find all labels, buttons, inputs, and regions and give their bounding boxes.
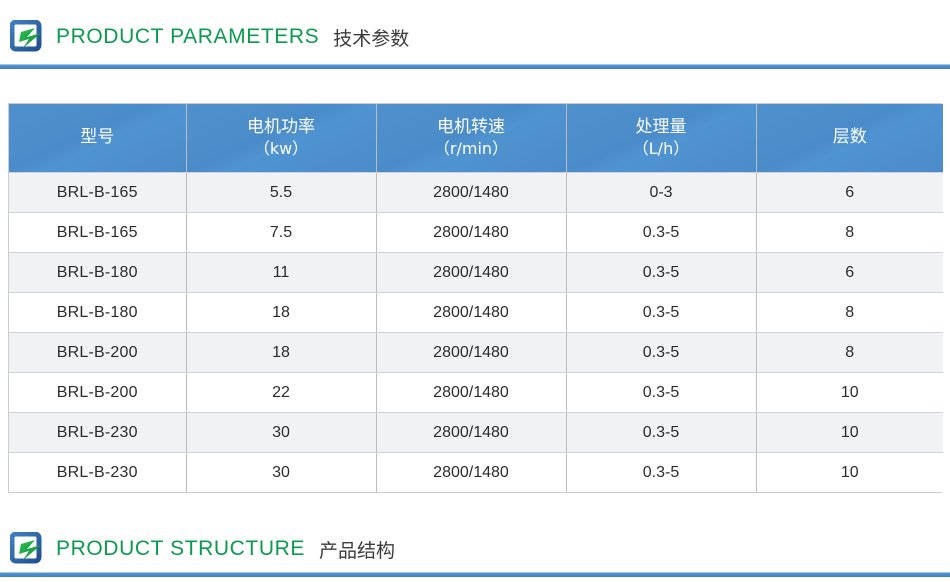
cell-model: BRL-B-230 [9, 453, 186, 493]
column-header-layers-name: 层数 [757, 127, 944, 149]
cell-power: 30 [186, 413, 376, 453]
cell-model: BRL-B-165 [9, 173, 186, 213]
section-title-cn: 技术参数 [333, 24, 409, 51]
product-parameters-table: 型号 电机功率 （kw） 电机转速 （r/min） 处理量 （L/h） [9, 104, 943, 492]
cell-speed: 2800/1480 [376, 453, 566, 493]
cell-power: 30 [186, 453, 376, 493]
product-parameters-page: PRODUCT PARAMETERS 技术参数 型号 [0, 0, 950, 580]
column-header-power-unit: （kw） [187, 139, 376, 159]
section-header-product-parameters: PRODUCT PARAMETERS 技术参数 [0, 14, 950, 70]
cell-model: BRL-B-180 [9, 253, 186, 293]
cell-model: BRL-B-180 [9, 293, 186, 333]
table-row: BRL-B-230 30 2800/1480 0.3-5 10 [9, 413, 943, 453]
cell-layers: 6 [756, 173, 943, 213]
column-header-model-name: 型号 [9, 127, 186, 149]
table-body: BRL-B-165 5.5 2800/1480 0-3 6 BRL-B-165 … [9, 173, 943, 493]
cell-layers: 8 [756, 333, 943, 373]
cell-speed: 2800/1480 [376, 373, 566, 413]
column-header-speed-name: 电机转速 [377, 117, 566, 139]
cell-speed: 2800/1480 [376, 293, 566, 333]
cell-capacity: 0.3-5 [566, 333, 756, 373]
cell-speed: 2800/1480 [376, 333, 566, 373]
column-header-capacity: 处理量 （L/h） [566, 104, 756, 173]
cell-layers: 10 [756, 453, 943, 493]
cell-power: 18 [186, 333, 376, 373]
section-divider-rule [0, 64, 950, 69]
table-row: BRL-B-230 30 2800/1480 0.3-5 10 [9, 453, 943, 493]
cell-layers: 8 [756, 293, 943, 333]
table-row: BRL-B-200 22 2800/1480 0.3-5 10 [9, 373, 943, 413]
cell-capacity: 0.3-5 [566, 293, 756, 333]
logo-mark-icon [10, 20, 44, 54]
section-divider-rule [0, 572, 950, 577]
table-row: BRL-B-200 18 2800/1480 0.3-5 8 [9, 333, 943, 373]
section-title-cn: 产品结构 [319, 536, 395, 563]
section-title-en: PRODUCT PARAMETERS [56, 25, 319, 49]
table-row: BRL-B-165 7.5 2800/1480 0.3-5 8 [9, 213, 943, 253]
table-row: BRL-B-180 11 2800/1480 0.3-5 6 [9, 253, 943, 293]
column-header-capacity-name: 处理量 [567, 117, 756, 139]
cell-layers: 6 [756, 253, 943, 293]
cell-capacity: 0.3-5 [566, 413, 756, 453]
table-row: BRL-B-180 18 2800/1480 0.3-5 8 [9, 293, 943, 333]
cell-power: 22 [186, 373, 376, 413]
cell-speed: 2800/1480 [376, 173, 566, 213]
cell-power: 18 [186, 293, 376, 333]
table-header: 型号 电机功率 （kw） 电机转速 （r/min） 处理量 （L/h） [9, 104, 943, 173]
column-header-layers: 层数 [756, 104, 943, 173]
cell-speed: 2800/1480 [376, 413, 566, 453]
column-header-model: 型号 [9, 104, 186, 173]
cell-speed: 2800/1480 [376, 253, 566, 293]
cell-model: BRL-B-230 [9, 413, 186, 453]
cell-capacity: 0.3-5 [566, 213, 756, 253]
logo-mark-icon [10, 532, 44, 566]
column-header-speed-unit: （r/min） [377, 139, 566, 159]
table-row: BRL-B-165 5.5 2800/1480 0-3 6 [9, 173, 943, 213]
cell-power: 5.5 [186, 173, 376, 213]
cell-layers: 8 [756, 213, 943, 253]
cell-model: BRL-B-200 [9, 373, 186, 413]
table-header-row: 型号 电机功率 （kw） 电机转速 （r/min） 处理量 （L/h） [9, 104, 943, 173]
spec-table-container: 型号 电机功率 （kw） 电机转速 （r/min） 处理量 （L/h） [8, 103, 942, 493]
column-header-power: 电机功率 （kw） [186, 104, 376, 173]
cell-layers: 10 [756, 373, 943, 413]
cell-power: 11 [186, 253, 376, 293]
column-header-power-name: 电机功率 [187, 117, 376, 139]
cell-layers: 10 [756, 413, 943, 453]
cell-speed: 2800/1480 [376, 213, 566, 253]
cell-capacity: 0.3-5 [566, 453, 756, 493]
cell-model: BRL-B-165 [9, 213, 186, 253]
cell-power: 7.5 [186, 213, 376, 253]
column-header-speed: 电机转速 （r/min） [376, 104, 566, 173]
cell-capacity: 0.3-5 [566, 373, 756, 413]
section-title-en: PRODUCT STRUCTURE [56, 537, 305, 561]
cell-model: BRL-B-200 [9, 333, 186, 373]
cell-capacity: 0.3-5 [566, 253, 756, 293]
cell-capacity: 0-3 [566, 173, 756, 213]
column-header-capacity-unit: （L/h） [567, 139, 756, 159]
